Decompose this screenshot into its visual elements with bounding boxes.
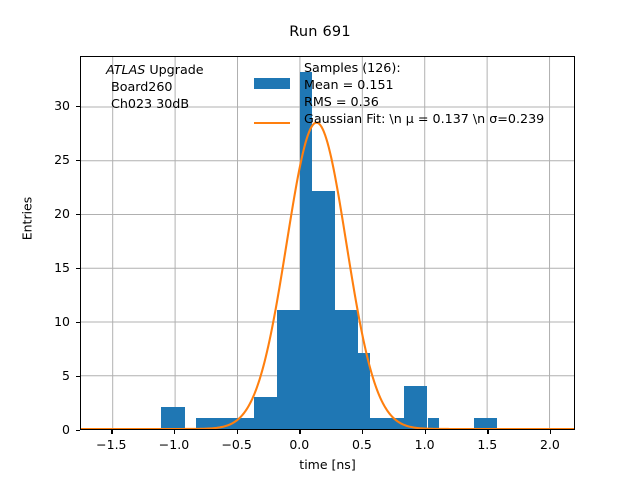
x-tick-mark	[237, 430, 238, 434]
x-tick-mark	[362, 430, 363, 434]
x-tick-label: 1.5	[457, 437, 517, 452]
y-tick-label: 5	[26, 368, 70, 383]
x-tick-label: 1.0	[395, 437, 455, 452]
x-tick-label: 2.0	[520, 437, 580, 452]
atlas-annotation: ATLAS Upgrade Board260 Ch023 30dB	[106, 62, 204, 113]
figure-canvas: Run 691 −1.5−1.0−0.50.00.51.01.52.005101…	[0, 0, 640, 480]
x-tick-mark	[299, 430, 300, 434]
y-tick-label: 0	[26, 422, 70, 437]
x-axis-label: time [ns]	[80, 457, 575, 472]
y-tick-mark	[76, 106, 80, 107]
x-tick-mark	[174, 430, 175, 434]
annotation-line-3: Ch023 30dB	[106, 96, 204, 113]
x-tick-mark	[425, 430, 426, 434]
x-tick-label: −0.5	[207, 437, 267, 452]
y-axis-label: Entries	[20, 149, 35, 289]
legend-hist-line-2: Mean = 0.151	[304, 77, 544, 94]
x-tick-mark	[550, 430, 551, 434]
x-tick-mark	[487, 430, 488, 434]
y-tick-mark	[76, 160, 80, 161]
legend-text-block: Samples (126): Mean = 0.151 RMS = 0.36 G…	[304, 60, 544, 128]
x-tick-mark	[111, 430, 112, 434]
annotation-line-2: Board260	[106, 79, 204, 96]
y-tick-mark	[76, 430, 80, 431]
legend-hist-line-3: RMS = 0.36	[304, 94, 544, 111]
y-tick-label: 10	[26, 314, 70, 329]
y-tick-label: 30	[26, 98, 70, 113]
legend-fit-label: Gaussian Fit: \n μ = 0.137 \n σ=0.239	[304, 111, 544, 128]
y-tick-mark	[76, 268, 80, 269]
legend-histogram-swatch	[254, 78, 290, 89]
page-title: Run 691	[0, 24, 640, 40]
x-tick-label: −1.0	[144, 437, 204, 452]
y-tick-mark	[76, 214, 80, 215]
y-tick-mark	[76, 322, 80, 323]
x-tick-label: 0.5	[332, 437, 392, 452]
legend-fit-swatch	[254, 122, 290, 124]
y-tick-mark	[76, 376, 80, 377]
annotation-line-1: ATLAS Upgrade	[106, 62, 204, 79]
x-tick-label: 0.0	[269, 437, 329, 452]
fit-path	[81, 123, 574, 429]
upgrade-label: Upgrade	[145, 62, 203, 77]
x-tick-label: −1.5	[81, 437, 141, 452]
atlas-label: ATLAS	[106, 62, 145, 77]
legend-hist-line-1: Samples (126):	[304, 60, 544, 77]
